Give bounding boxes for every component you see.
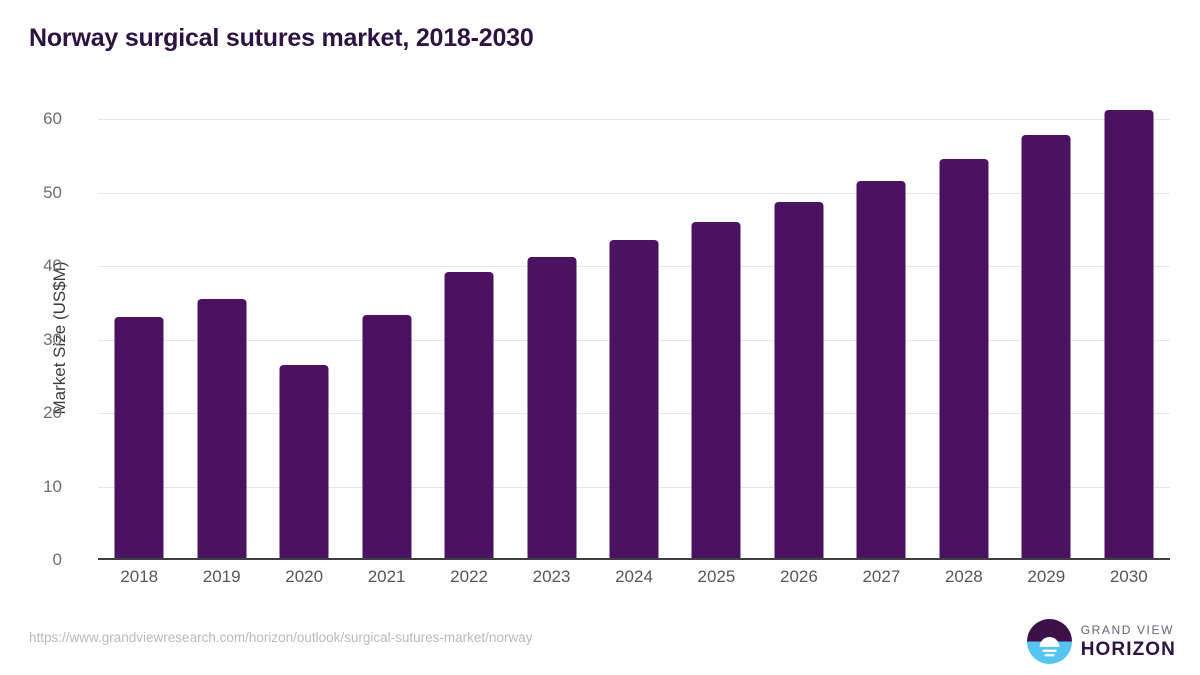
bar-2025[interactable] — [692, 222, 741, 560]
x-axis-tick-label: 2021 — [345, 567, 427, 587]
x-axis-tick-label: 2026 — [758, 567, 840, 587]
bar-slot[interactable] — [510, 115, 592, 560]
bar-slot[interactable] — [428, 115, 510, 560]
grand-view-horizon-logo: GRAND VIEW HORIZON — [1027, 618, 1176, 664]
x-axis-tick-label: 2030 — [1088, 567, 1170, 587]
y-axis-tick-label: 50 — [2, 183, 62, 203]
x-axis-tick-label: 2024 — [593, 567, 675, 587]
bar-2024[interactable] — [609, 240, 658, 560]
bar-slot[interactable] — [263, 115, 345, 560]
horizon-logo-icon — [1027, 619, 1072, 664]
y-axis-tick-label: 10 — [2, 477, 62, 497]
x-axis-tick-label: 2029 — [1005, 567, 1087, 587]
bar-slot[interactable] — [1088, 115, 1170, 560]
bar-slot[interactable] — [98, 115, 180, 560]
bar-slot[interactable] — [593, 115, 675, 560]
logo-text: GRAND VIEW HORIZON — [1081, 624, 1176, 659]
x-axis-tick-label: 2018 — [98, 567, 180, 587]
x-axis-tick-label: 2027 — [840, 567, 922, 587]
bar-2029[interactable] — [1022, 135, 1071, 560]
logo-text-horizon: HORIZON — [1081, 640, 1176, 659]
x-axis-tick-label: 2020 — [263, 567, 345, 587]
bar-2028[interactable] — [939, 159, 988, 560]
y-axis-tick-label: 40 — [2, 256, 62, 276]
bar-slot[interactable] — [675, 115, 757, 560]
y-axis-tick-label: 60 — [2, 109, 62, 129]
y-axis-tick-label: 30 — [2, 330, 62, 350]
bar-2020[interactable] — [280, 365, 329, 560]
bar-slot[interactable] — [1005, 115, 1087, 560]
x-axis-tick-label: 2025 — [675, 567, 757, 587]
bar-slot[interactable] — [758, 115, 840, 560]
bar-2030[interactable] — [1104, 110, 1153, 560]
bar-2026[interactable] — [774, 202, 823, 560]
bar-2021[interactable] — [362, 315, 411, 560]
page-title: Norway surgical sutures market, 2018-203… — [29, 24, 534, 53]
x-axis-tick-label: 2023 — [510, 567, 592, 587]
y-axis-tick-label: 20 — [2, 403, 62, 423]
bar-slot[interactable] — [923, 115, 1005, 560]
bar-slot[interactable] — [180, 115, 262, 560]
x-axis-tick-label: 2028 — [923, 567, 1005, 587]
bar-2022[interactable] — [445, 272, 494, 560]
bar-2023[interactable] — [527, 257, 576, 560]
x-axis-tick-label: 2022 — [428, 567, 510, 587]
chart-page: Norway surgical sutures market, 2018-203… — [0, 0, 1200, 675]
y-axis-tick-label: 0 — [2, 550, 62, 570]
x-axis-tick-label: 2019 — [180, 567, 262, 587]
bar-slot[interactable] — [840, 115, 922, 560]
bars-layer — [98, 115, 1170, 560]
chart-plot-area: Market Size (US$M) 0102030405060 2018201… — [98, 115, 1170, 560]
source-url-text: https://www.grandviewresearch.com/horizo… — [29, 630, 532, 645]
logo-text-grand-view: GRAND VIEW — [1081, 624, 1176, 636]
bar-2019[interactable] — [197, 299, 246, 560]
bar-2027[interactable] — [857, 181, 906, 560]
bar-2018[interactable] — [115, 317, 164, 560]
bar-slot[interactable] — [345, 115, 427, 560]
x-axis-line — [98, 558, 1170, 560]
